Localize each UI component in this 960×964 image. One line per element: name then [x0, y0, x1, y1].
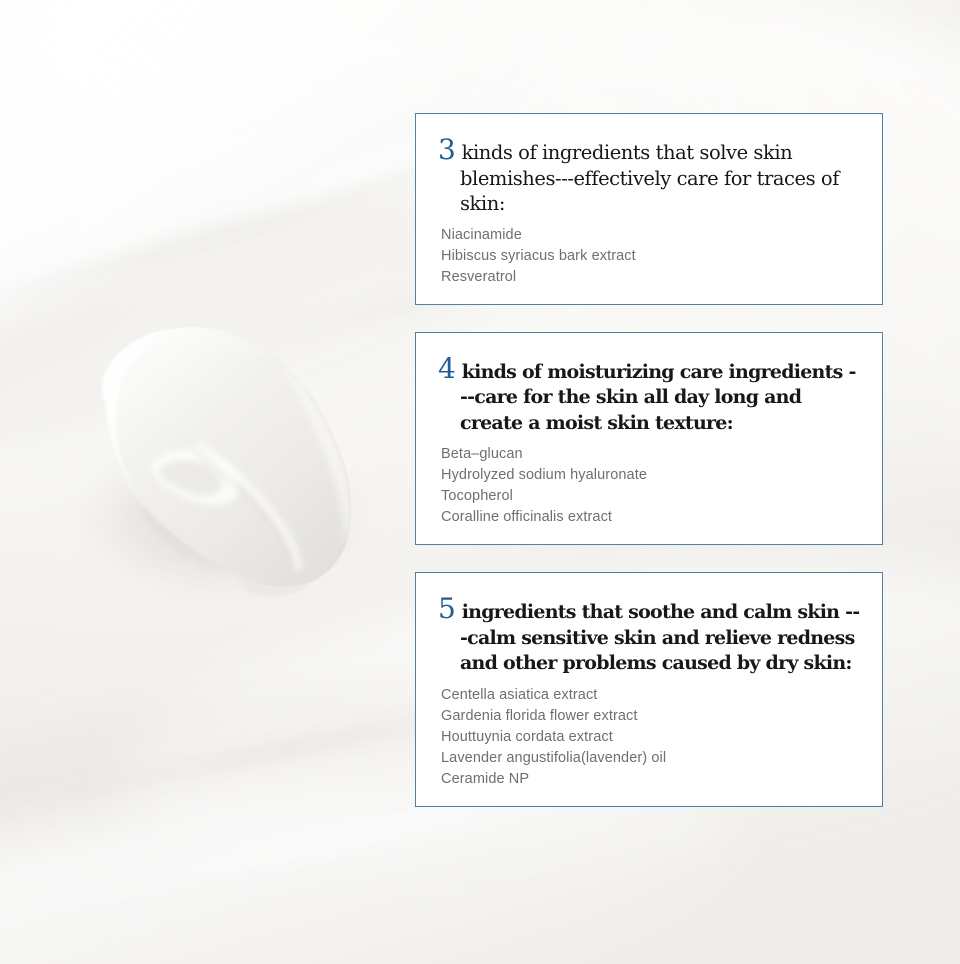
cream-swatch-image [48, 312, 378, 612]
list-item: Ceramide NP [441, 769, 862, 790]
list-item: Beta–glucan [441, 444, 862, 465]
box-heading: 4 kinds of moisturizing care ingredients… [438, 355, 862, 437]
list-item: Coralline officinalis extract [441, 507, 862, 528]
box-number: 5 [438, 592, 456, 625]
list-item: Resveratrol [441, 267, 862, 288]
box-heading: 5 ingredients that soothe and calm skin … [438, 595, 862, 677]
list-item: Niacinamide [441, 225, 862, 246]
box-heading: 3 kinds of ingredients that solve skin b… [438, 136, 862, 217]
box-number: 4 [438, 352, 456, 385]
ingredient-list: Niacinamide Hibiscus syriacus bark extra… [438, 225, 862, 288]
list-item: Hydrolyzed sodium hyaluronate [441, 465, 862, 486]
ingredient-box-list: 3 kinds of ingredients that solve skin b… [415, 113, 883, 807]
ingredient-box: 3 kinds of ingredients that solve skin b… [415, 113, 883, 305]
box-heading-text: kinds of ingredients that solve skin ble… [460, 141, 839, 215]
product-ingredient-infographic: 3 kinds of ingredients that solve skin b… [0, 0, 960, 964]
box-number: 3 [438, 133, 456, 166]
list-item: Gardenia florida flower extract [441, 706, 862, 727]
box-heading-text: kinds of moisturizing care ingredients -… [460, 361, 856, 434]
ingredient-list: Centella asiatica extract Gardenia flori… [438, 685, 862, 790]
list-item: Lavender angustifolia(lavender) oil [441, 748, 862, 769]
list-item: Hibiscus syriacus bark extract [441, 246, 862, 267]
list-item: Centella asiatica extract [441, 685, 862, 706]
box-heading-text: ingredients that soothe and calm skin --… [460, 601, 859, 674]
list-item: Houttuynia cordata extract [441, 727, 862, 748]
ingredient-list: Beta–glucan Hydrolyzed sodium hyaluronat… [438, 444, 862, 528]
ingredient-box: 5 ingredients that soothe and calm skin … [415, 572, 883, 807]
list-item: Tocopherol [441, 486, 862, 507]
ingredient-box: 4 kinds of moisturizing care ingredients… [415, 332, 883, 546]
